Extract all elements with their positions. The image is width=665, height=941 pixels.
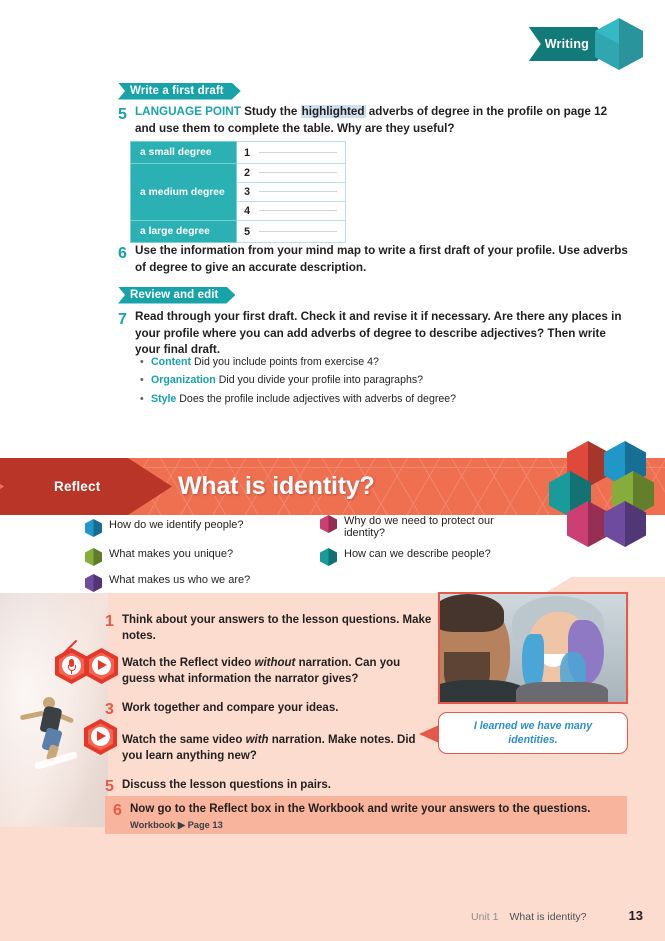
hexagon-bullet-icon <box>320 515 337 533</box>
hexagon-bullet-icon <box>320 548 337 566</box>
lesson-question-5: How can we describe people? <box>320 548 520 566</box>
checklist-item-style: Style Does the profile include adjective… <box>140 391 620 407</box>
lesson-question-2-text: What makes you unique? <box>109 548 233 560</box>
step-4-media-icons <box>84 719 117 755</box>
reflect-steps-list: 1 Think about your answers to the lesson… <box>105 612 435 809</box>
play-icon[interactable] <box>85 648 118 684</box>
step-1-number: 1 <box>105 612 122 644</box>
lesson-question-5-text: How can we describe people? <box>344 548 491 560</box>
tag-write-first-draft-label: Write a first draft <box>118 83 241 100</box>
table-row: a medium degree 2 <box>131 164 346 183</box>
lesson-question-2: What makes you unique? <box>85 548 335 566</box>
reflect-banner-title: What is identity? <box>178 458 375 515</box>
adverbs-degree-table: a small degree 1 a medium degree 2 3 4 a… <box>130 141 346 243</box>
two-people-photo <box>438 592 628 704</box>
table-label-medium-degree: a medium degree <box>131 164 237 221</box>
lesson-question-4: Why do we need to protect our identity? <box>320 515 520 539</box>
lesson-question-1: How do we identify people? <box>85 519 335 537</box>
speech-bubble-tail <box>419 725 439 743</box>
step-2-media-icons <box>55 648 118 684</box>
writing-tab-hexagon-icon <box>595 18 643 70</box>
writing-page-section: Writing Write a first draft 5 LANGUAGE P… <box>0 0 665 455</box>
writing-section-tab: Writing <box>529 24 643 64</box>
step-3-text: Work together and compare your ideas. <box>122 700 338 721</box>
footer-unit: Unit 1 <box>471 911 498 923</box>
exercise-7-checklist: Content Did you include points from exer… <box>140 354 620 409</box>
hexagon-cluster-decoration <box>547 441 657 559</box>
page-number: 13 <box>629 908 643 923</box>
play-icon[interactable] <box>84 719 117 755</box>
table-row: a small degree 1 <box>131 142 346 164</box>
step-2: 2 Watch the Reflect video without narrat… <box>105 655 435 687</box>
page-footer: Unit 1 What is identity? 13 <box>471 908 643 923</box>
exercise-5-text-before: Study the <box>244 105 301 118</box>
lesson-question-3: What makes us who we are? <box>85 574 335 592</box>
step-1: 1 Think about your answers to the lesson… <box>105 612 435 644</box>
exercise-6: 6 Use the information from your mind map… <box>118 243 628 276</box>
table-cell-2[interactable]: 2 <box>237 164 346 183</box>
highlighted-word: highlighted <box>301 105 366 118</box>
step-3: 3 Work together and compare your ideas. <box>105 700 435 721</box>
lesson-question-3-text: What makes us who we are? <box>109 574 250 586</box>
table-cell-5[interactable]: 5 <box>237 221 346 243</box>
mute-icon[interactable] <box>55 648 88 684</box>
table-cell-3[interactable]: 3 <box>237 183 346 202</box>
table-cell-4[interactable]: 4 <box>237 202 346 221</box>
table-label-small-degree: a small degree <box>131 142 237 164</box>
tag-review-and-edit: Review and edit <box>118 285 235 304</box>
checklist-item-organization: Organization Did you divide your profile… <box>140 372 620 388</box>
table-cell-1[interactable]: 1 <box>237 142 346 164</box>
hexagon-pink-icon <box>567 501 609 547</box>
speech-bubble: I learned we have many identities. <box>438 712 628 754</box>
exercise-5-number: 5 <box>118 104 135 137</box>
footer-title: What is identity? <box>509 911 586 923</box>
step-6-number: 6 <box>113 802 130 820</box>
step-4-text: Watch the same video with narration. Mak… <box>122 732 435 764</box>
lesson-question-1-text: How do we identify people? <box>109 519 244 531</box>
exercise-5: 5 LANGUAGE POINT Study the highlighted a… <box>118 104 628 137</box>
reflect-banner-label: Reflect <box>54 479 100 494</box>
hexagon-bullet-icon <box>85 548 102 566</box>
exercise-7-number: 7 <box>118 309 135 359</box>
tag-write-first-draft: Write a first draft <box>118 81 241 100</box>
language-point-label: LANGUAGE POINT <box>135 105 241 118</box>
exercise-7-text: Read through your first draft. Check it … <box>135 309 628 359</box>
workbook-reference: Workbook ▶ Page 13 <box>130 820 590 831</box>
step-6-text: Now go to the Reflect box in the Workboo… <box>130 802 590 818</box>
table-label-large-degree: a large degree <box>131 221 237 243</box>
hexagon-purple-icon <box>604 501 646 547</box>
hexagon-bullet-icon <box>85 519 102 537</box>
hexagon-bullet-icon <box>85 574 102 592</box>
exercise-6-text: Use the information from your mind map t… <box>135 243 628 276</box>
step-1-text: Think about your answers to the lesson q… <box>122 612 435 644</box>
step-6-highlight-box: 6 Now go to the Reflect box in the Workb… <box>105 796 627 834</box>
surfer-photo <box>0 577 108 827</box>
exercise-6-number: 6 <box>118 243 135 276</box>
checklist-item-content: Content Did you include points from exer… <box>140 354 620 370</box>
step-2-text: Watch the Reflect video without narratio… <box>122 655 435 687</box>
step-4: 4 Watch the same video with narration. M… <box>105 732 435 764</box>
table-row: a large degree 5 <box>131 221 346 243</box>
speech-bubble-text: I learned we have many identities. <box>439 719 627 748</box>
exercise-7: 7 Read through your first draft. Check i… <box>118 309 628 359</box>
tag-review-and-edit-label: Review and edit <box>118 287 235 304</box>
exercise-5-text: LANGUAGE POINT Study the highlighted adv… <box>135 104 628 137</box>
lesson-question-4-text: Why do we need to protect our identity? <box>344 515 520 539</box>
